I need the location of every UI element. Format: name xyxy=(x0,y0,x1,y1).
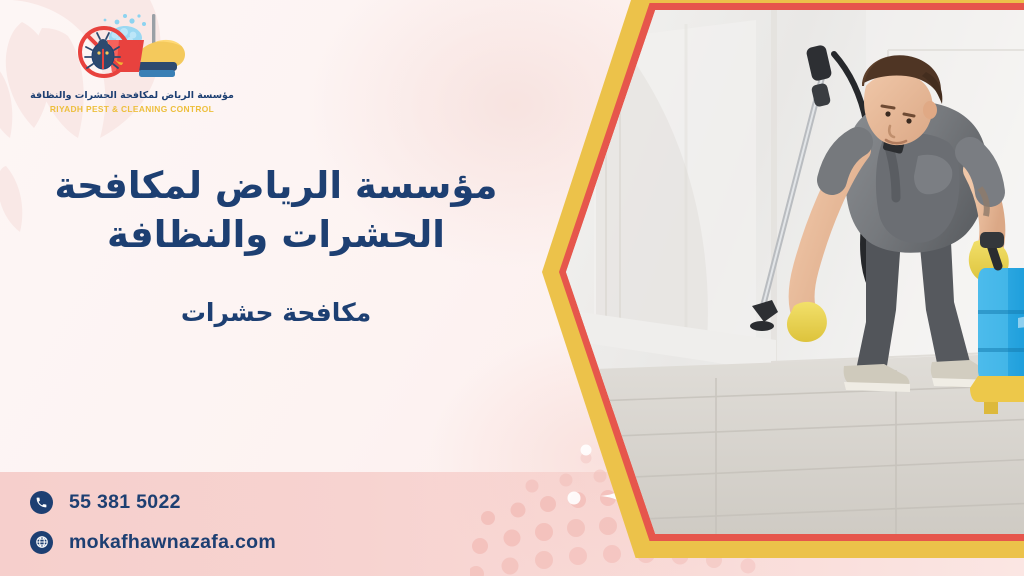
hero-photo xyxy=(566,10,1024,534)
phone-icon xyxy=(30,491,53,514)
brand-logo[interactable]: مؤسسة الرياض لمكافحة الحشرات والنظافة RI… xyxy=(12,10,252,114)
page-subtitle: مكافحة حشرات xyxy=(16,298,536,327)
logo-arabic-name: مؤسسة الرياض لمكافحة الحشرات والنظافة xyxy=(12,90,252,101)
website-url: mokafhawnazafa.com xyxy=(69,531,276,554)
logo-english-name: RIYADH PEST & CLEANING CONTROL xyxy=(12,104,252,114)
contact-info: 55 381 5022 mokafhawnazafa.com xyxy=(30,482,450,562)
promo-banner: مؤسسة الرياض لمكافحة الحشرات والنظافة RI… xyxy=(0,0,1024,576)
phone-number: 55 381 5022 xyxy=(69,491,181,514)
contact-row-phone[interactable]: 55 381 5022 xyxy=(30,482,450,522)
page-title: مؤسسة الرياض لمكافحة الحشرات والنظافة xyxy=(16,162,536,260)
globe-icon xyxy=(30,531,53,554)
hexagon-photo-frame xyxy=(542,0,1024,558)
contact-row-website[interactable]: mokafhawnazafa.com xyxy=(30,522,450,562)
pest-cleaning-logo-icon xyxy=(69,10,195,88)
